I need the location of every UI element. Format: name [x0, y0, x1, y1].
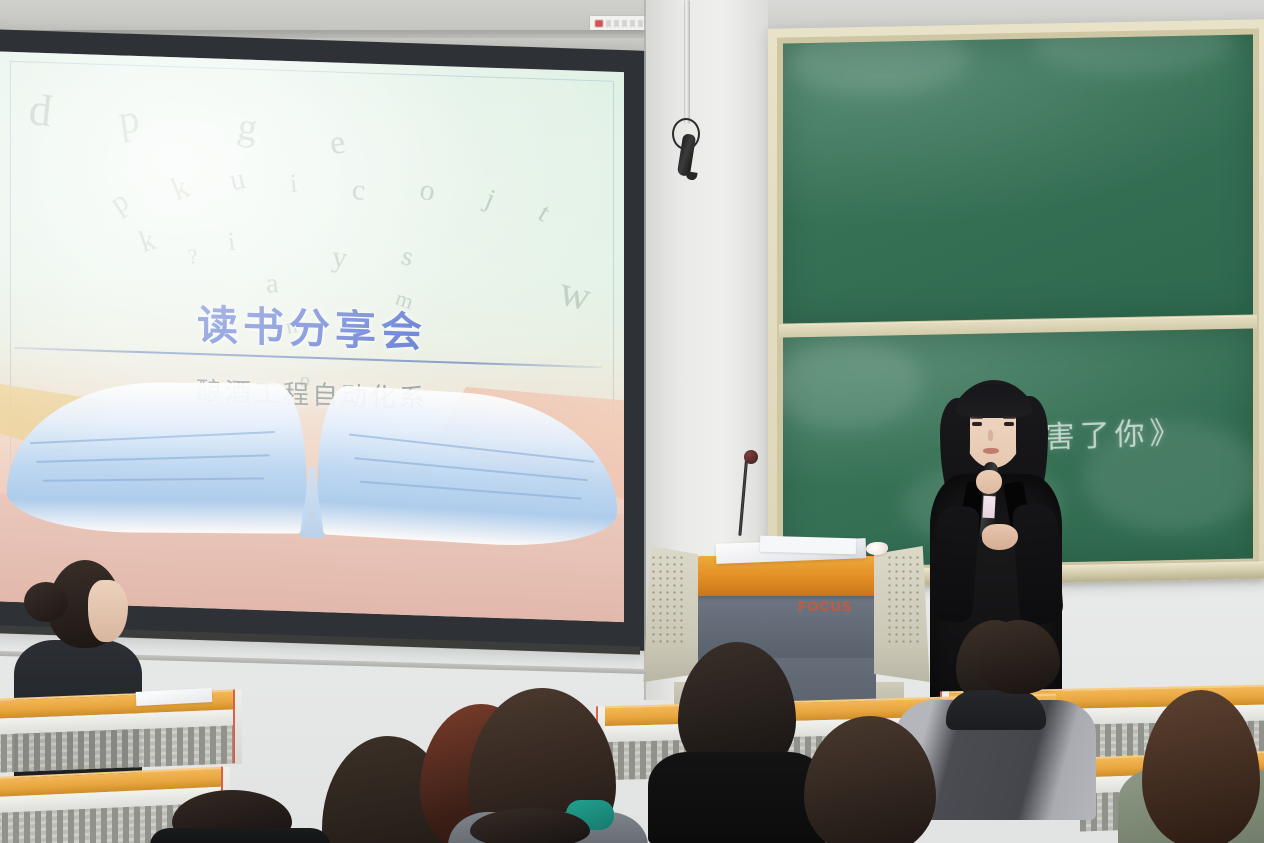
presenter-nose [988, 430, 993, 441]
ceiling-soffit [0, 0, 660, 34]
presenter-hand-lower [982, 524, 1018, 550]
presenter-eye-right [1004, 422, 1014, 426]
lectern-speaker-grille-left [650, 554, 686, 646]
classroom-scene: p d g e p k u i c o j t k ? i y s a m n [0, 0, 1264, 843]
lectern-speaker-grille-right [886, 554, 922, 646]
audience-head-4-torso [648, 752, 828, 843]
microphone-grip [982, 496, 995, 519]
projection-screen-frame: p d g e p k u i c o j t k ? i y s a m n [0, 29, 648, 651]
lectern-papers-second [760, 536, 856, 555]
presenter-hand-upper [976, 470, 1002, 494]
audience-head-8-torso [150, 828, 330, 843]
red-logo-mark [595, 20, 603, 27]
ceiling-boom-rod [684, 0, 690, 124]
projection-screen: p d g e p k u i c o j t k ? i y s a m n [0, 51, 624, 622]
book-page-right [316, 384, 619, 552]
desk-side-right [233, 689, 242, 763]
presenter-brow-left [970, 416, 983, 419]
presenter-eye-left [972, 422, 982, 426]
presenter-arm-right [1012, 503, 1064, 626]
gooseneck-microphone-icon [744, 450, 758, 464]
presenter-mouth [983, 448, 999, 454]
lectern-brand-logo: FOCUS [798, 598, 852, 614]
audience-gray-jacket-collar [946, 690, 1046, 730]
audience-left-hair-bun [24, 582, 68, 622]
presenter-brow-right [1003, 416, 1016, 419]
chalk-pieces [866, 542, 888, 555]
book-page-left [4, 382, 307, 534]
chalkboard-upper-pane [783, 34, 1253, 323]
slide-open-book-icon [0, 377, 624, 548]
